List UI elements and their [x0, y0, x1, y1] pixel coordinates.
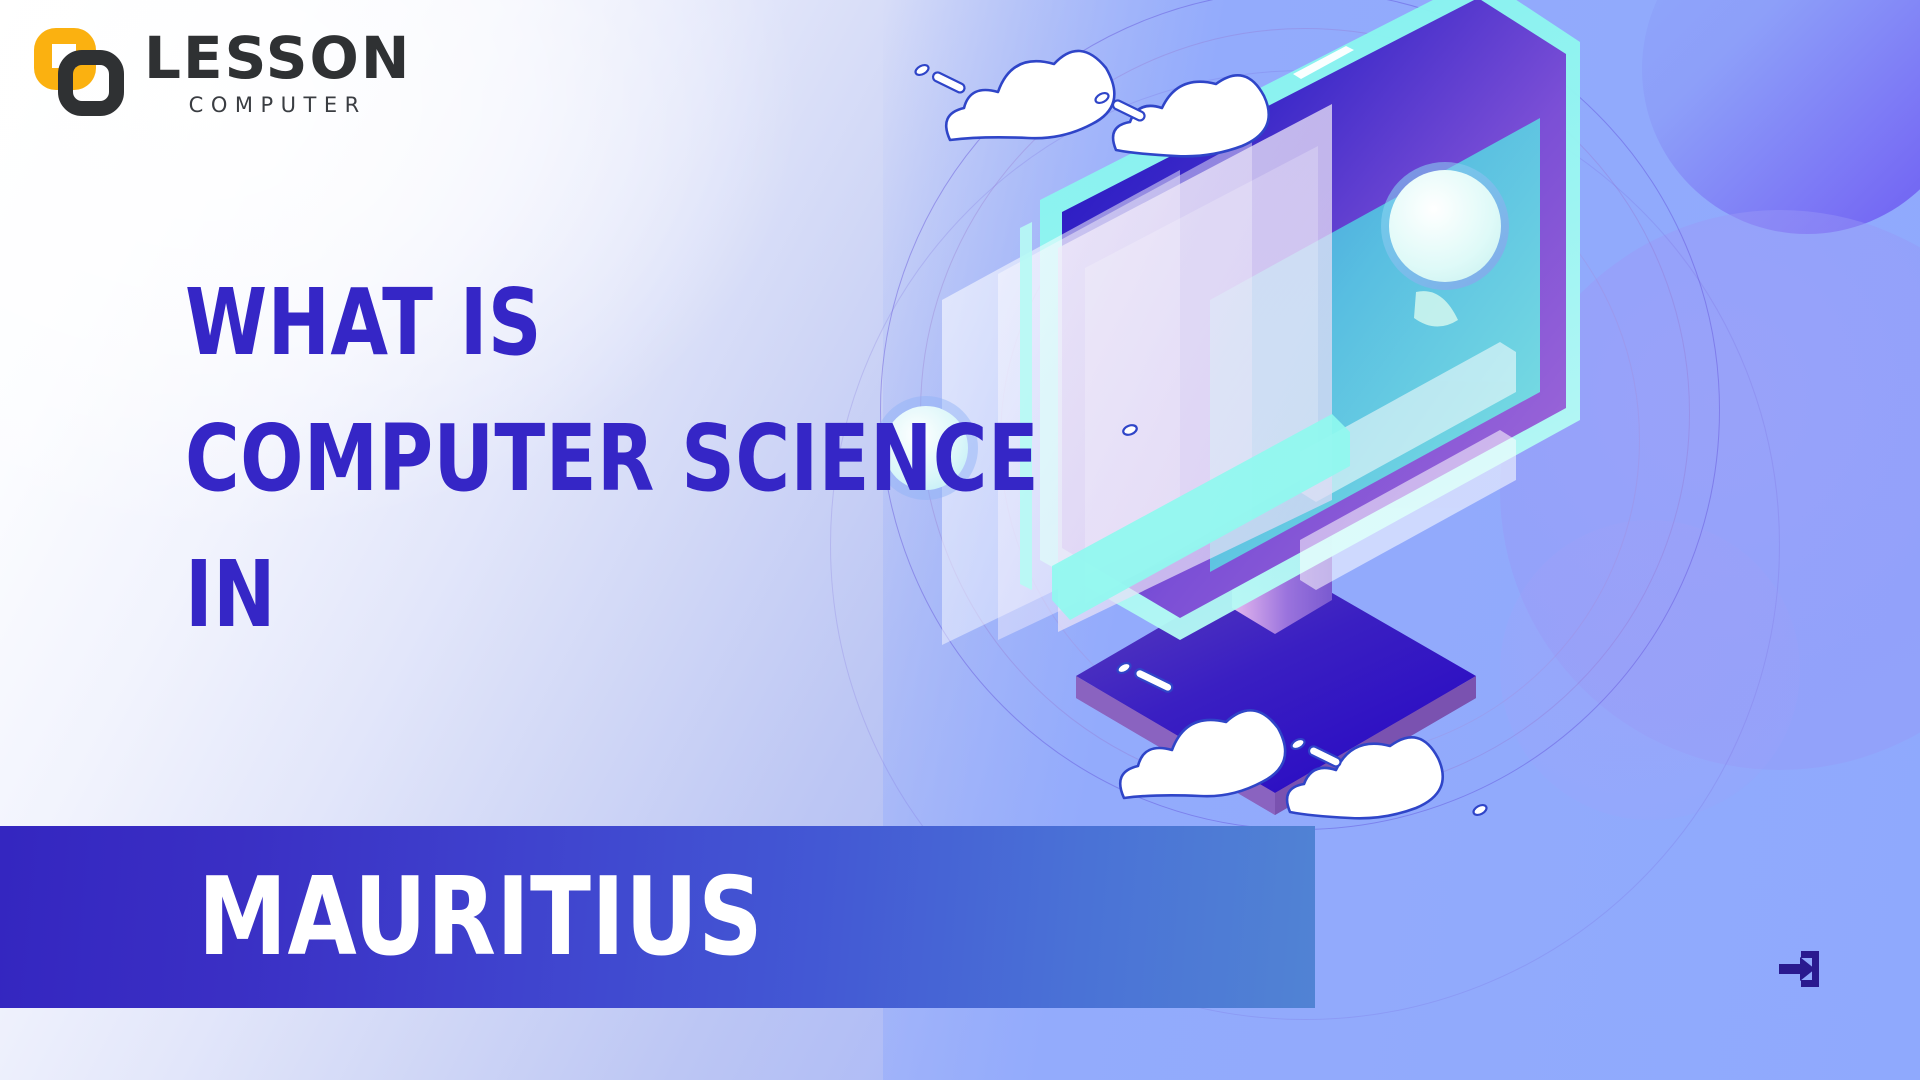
login-arrow-icon[interactable] [1775, 945, 1823, 993]
headline-line-2: COMPUTER SCIENCE [185, 391, 995, 527]
brand-logo[interactable]: LESSON COMPUTER [30, 22, 411, 122]
headline-line-1: WHAT IS [185, 255, 995, 391]
logo-wordmark: LESSON COMPUTER [144, 29, 411, 116]
page-title: WHAT IS COMPUTER SCIENCE IN [185, 255, 1085, 663]
logo-mark-icon [30, 22, 130, 122]
logo-brand-tagline: COMPUTER [144, 95, 411, 116]
logo-ring-shape [58, 50, 124, 116]
cloud-top-left [946, 51, 1114, 140]
headline-line-3: IN [185, 527, 995, 663]
banner-location-label: MAURITIUS [198, 855, 763, 980]
logo-brand-name: LESSON [144, 29, 411, 87]
highlight-banner: MAURITIUS [0, 826, 1315, 1008]
poster-canvas: LESSON COMPUTER WHAT IS COMPUTER SCIENCE… [0, 0, 1920, 1080]
